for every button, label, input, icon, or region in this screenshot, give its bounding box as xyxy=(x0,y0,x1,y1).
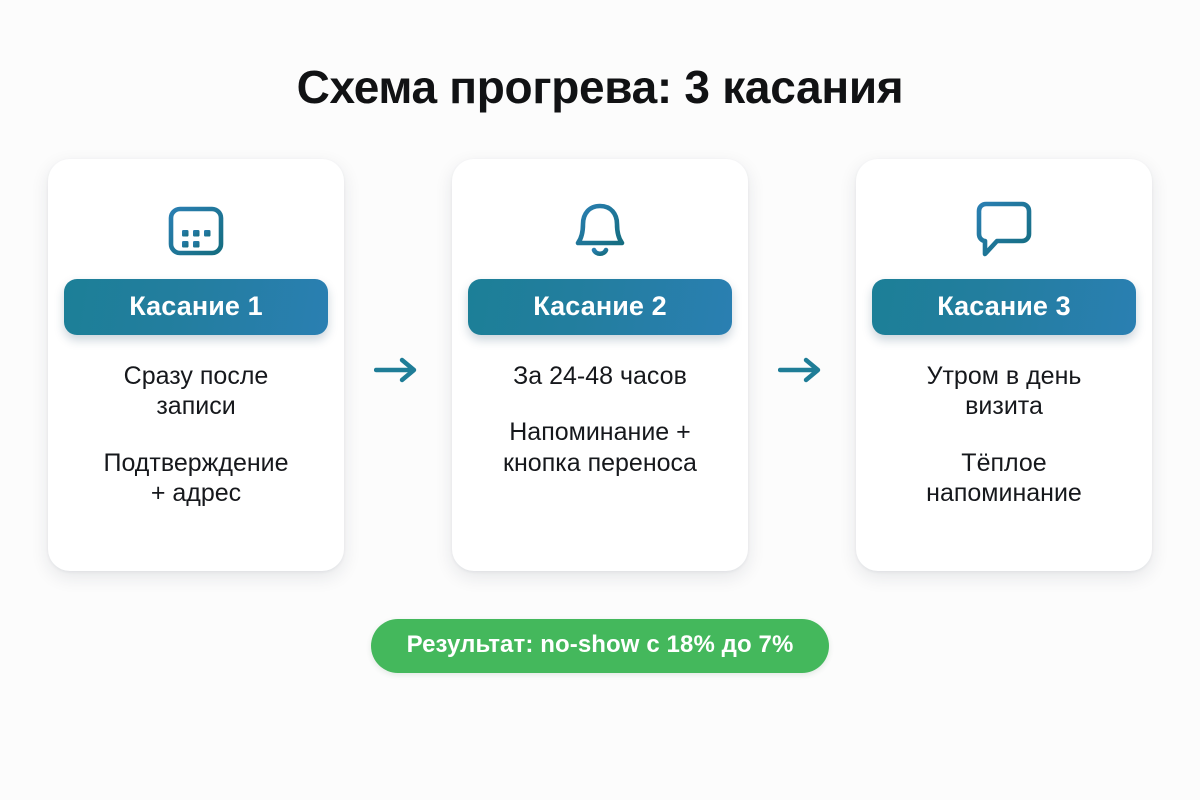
touch-badge-1[interactable]: Касание 1 xyxy=(64,279,328,335)
touch-badge-3[interactable]: Касание 3 xyxy=(872,279,1136,335)
touch-card-1: Касание 1 Сразу после записи Подтвержден… xyxy=(48,159,344,571)
touch-card-1-content: Подтверждение + адрес xyxy=(103,448,288,509)
touch-badge-2[interactable]: Касание 2 xyxy=(468,279,732,335)
touch-card-3: Касание 3 Утром в день визита Тёплое нап… xyxy=(856,159,1152,571)
touch-card-2-content: Напоминание + кнопка переноса xyxy=(503,417,697,478)
touch-flow: Касание 1 Сразу после записи Подтвержден… xyxy=(48,159,1152,571)
touch-card-2-body: За 24-48 часов Напоминание + кнопка пере… xyxy=(470,361,730,479)
result-badge: Результат: no-show с 18% до 7% xyxy=(371,619,830,673)
speech-bubble-icon xyxy=(974,191,1034,267)
page-title: Схема прогрева: 3 касания xyxy=(297,62,904,113)
touch-card-1-body: Сразу после записи Подтверждение + адрес xyxy=(66,361,326,509)
touch-card-1-timing: Сразу после записи xyxy=(124,361,269,422)
arrow-right-icon-1 xyxy=(344,159,452,571)
bell-icon xyxy=(571,191,629,267)
result-row: Результат: no-show с 18% до 7% xyxy=(0,619,1200,673)
touch-card-2-timing: За 24-48 часов xyxy=(513,361,687,392)
infographic-page: Схема прогрева: 3 касания xyxy=(0,0,1200,800)
touch-card-3-timing: Утром в день визита xyxy=(927,361,1082,422)
touch-card-2: Касание 2 За 24-48 часов Напоминание + к… xyxy=(452,159,748,571)
calendar-icon xyxy=(165,191,227,267)
arrow-right-icon-2 xyxy=(748,159,856,571)
touch-card-3-content: Тёплое напоминание xyxy=(926,448,1082,509)
touch-card-3-body: Утром в день визита Тёплое напоминание xyxy=(874,361,1134,509)
